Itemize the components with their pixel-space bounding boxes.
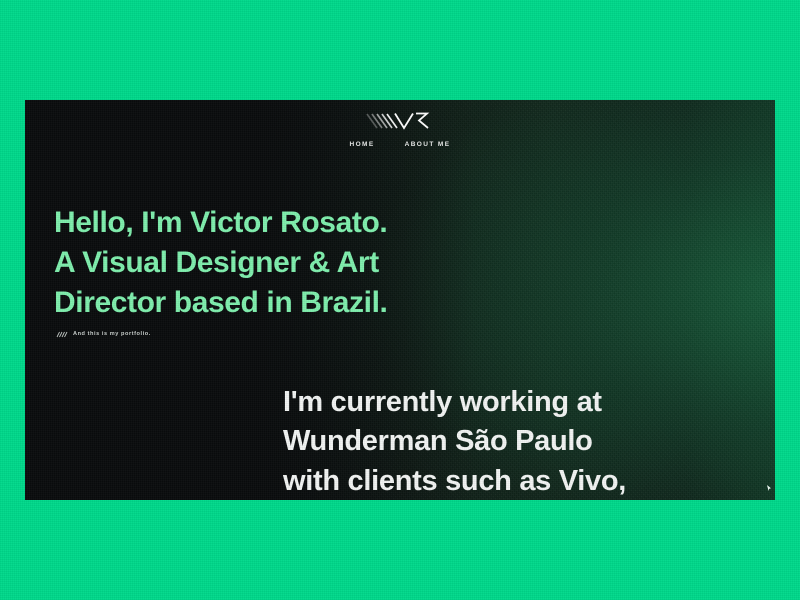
- hero-headline-line-1: Hello, I'm Victor Rosato.: [54, 203, 387, 243]
- statement-line-2: Wunderman São Paulo: [283, 422, 626, 461]
- primary-navigation: HOME ABOUT ME: [350, 141, 451, 148]
- nav-link-home[interactable]: HOME: [350, 141, 375, 148]
- hero-block: Hello, I'm Victor Rosato. A Visual Desig…: [54, 203, 387, 338]
- statement-block: I'm currently working at Wunderman São P…: [283, 383, 626, 500]
- hero-headline-line-2: A Visual Designer & Art: [54, 243, 387, 283]
- vr-monogram-logo[interactable]: [364, 108, 436, 132]
- statement-line-1: I'm currently working at: [283, 383, 626, 422]
- statement-line-3: with clients such as Vivo,: [283, 462, 626, 500]
- hero-subtitle-text: And this is my portfolio.: [73, 331, 151, 337]
- hero-headline-line-3: Director based in Brazil.: [54, 283, 387, 323]
- hero-subtitle: And this is my portfolio.: [56, 331, 387, 338]
- page-canvas: HOME ABOUT ME Hello, I'm Victor Rosato. …: [0, 0, 800, 600]
- slash-marker-icon: [56, 331, 69, 338]
- nav-link-about-me[interactable]: ABOUT ME: [405, 141, 451, 148]
- site-header: HOME ABOUT ME: [25, 100, 775, 148]
- portfolio-site-card: HOME ABOUT ME Hello, I'm Victor Rosato. …: [25, 100, 775, 500]
